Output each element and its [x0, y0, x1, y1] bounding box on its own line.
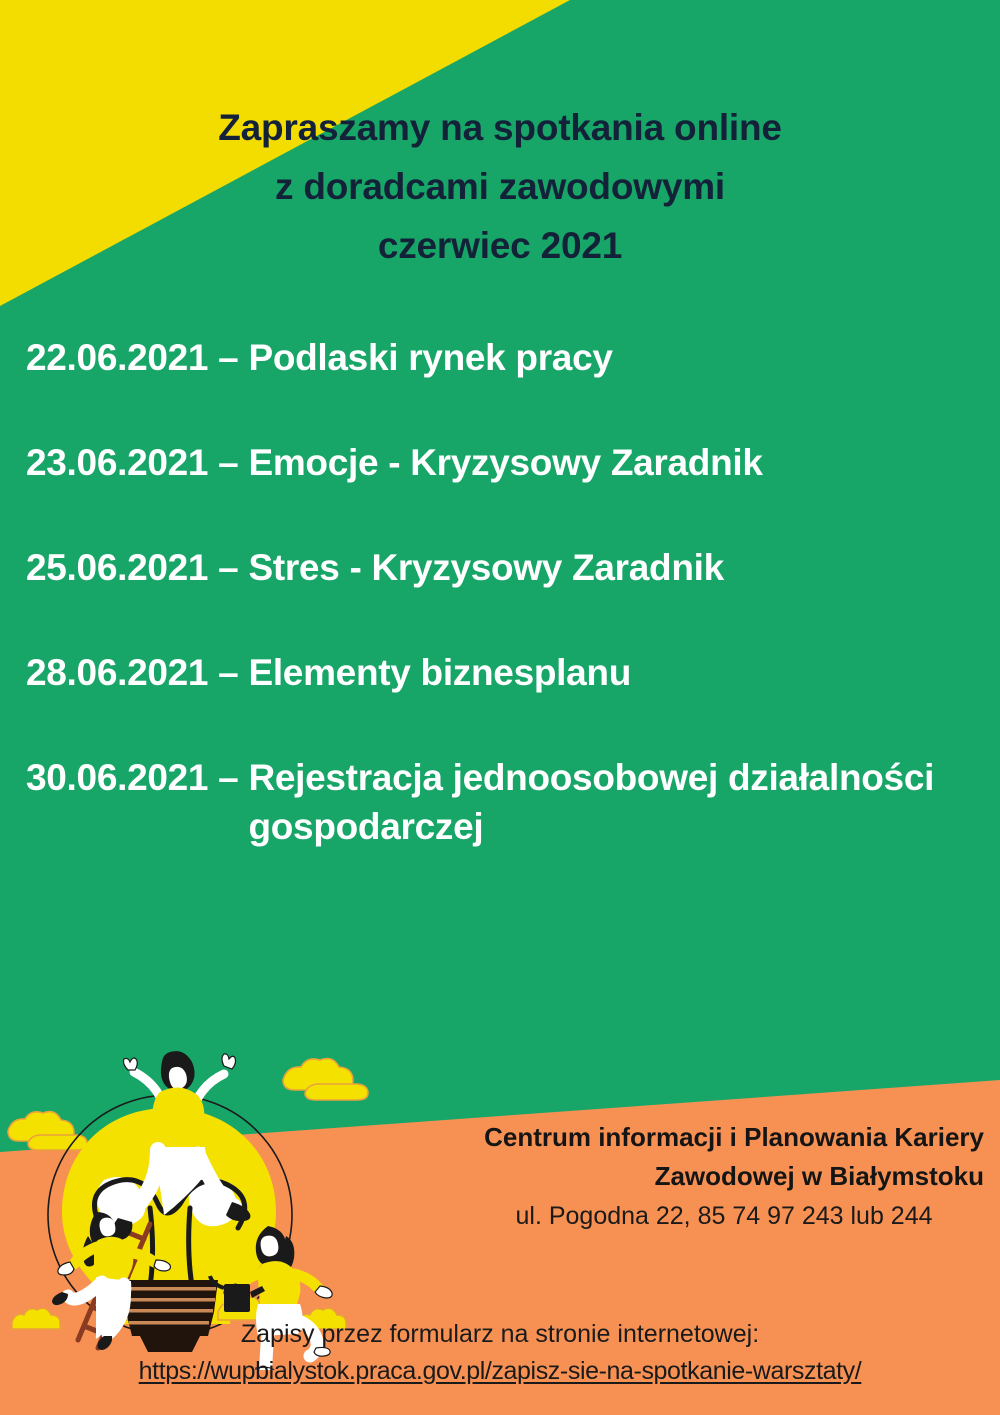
title-line-2: z doradcami zawodowymi — [0, 157, 1000, 216]
schedule-topic: Emocje - Kryzysowy Zaradnik — [248, 438, 976, 487]
organisation-name-line-1: Centrum informacji i Planowania Kariery — [344, 1118, 984, 1157]
schedule-item: 28.06.2021 – Elementy biznesplanu — [26, 648, 976, 697]
signup-url-link[interactable]: https://wupbialystok.praca.gov.pl/zapisz… — [0, 1355, 1000, 1388]
contact-address: ul. Pogodna 22, 85 74 97 243 lub 244 — [344, 1198, 984, 1234]
cloud-icon — [283, 1059, 368, 1100]
signup-block: Zapisy przez formularz na stronie intern… — [0, 1318, 1000, 1388]
signup-intro-text: Zapisy przez formularz na stronie intern… — [241, 1320, 759, 1348]
schedule-topic: Stres - Kryzysowy Zaradnik — [248, 543, 976, 592]
schedule-item: 30.06.2021 – Rejestracja jednoosobowej d… — [26, 753, 976, 851]
schedule-item: 22.06.2021 – Podlaski rynek pracy — [26, 333, 976, 382]
schedule-date: 28.06.2021 — [26, 648, 208, 697]
poster-canvas: Zapraszamy na spotkania online z doradca… — [0, 0, 1000, 1415]
title-line-1: Zapraszamy na spotkania online — [0, 98, 1000, 157]
contact-block: Centrum informacji i Planowania Kariery … — [344, 1118, 984, 1234]
schedule-date: 22.06.2021 — [26, 333, 208, 382]
organisation-name-line-2: Zawodowej w Białymstoku — [344, 1157, 984, 1196]
schedule-item: 23.06.2021 – Emocje - Kryzysowy Zaradnik — [26, 438, 976, 487]
schedule-separator: – — [208, 648, 248, 697]
schedule-date: 25.06.2021 — [26, 543, 208, 592]
cloud-icon — [8, 1112, 87, 1150]
schedule-date: 23.06.2021 — [26, 438, 208, 487]
schedule-item: 25.06.2021 – Stres - Kryzysowy Zaradnik — [26, 543, 976, 592]
schedule-separator: – — [208, 543, 248, 592]
title-line-3: czerwiec 2021 — [0, 216, 1000, 275]
schedule-separator: – — [208, 438, 248, 487]
schedule-topic: Rejestracja jednoosobowej działalności g… — [248, 753, 976, 851]
schedule-topic: Podlaski rynek pracy — [248, 333, 976, 382]
schedule-date: 30.06.2021 — [26, 753, 208, 802]
schedule-separator: – — [208, 753, 248, 802]
schedule-separator: – — [208, 333, 248, 382]
schedule-topic: Elementy biznesplanu — [248, 648, 976, 697]
schedule-list: 22.06.2021 – Podlaski rynek pracy 23.06.… — [26, 333, 976, 907]
poster-title: Zapraszamy na spotkania online z doradca… — [0, 98, 1000, 275]
